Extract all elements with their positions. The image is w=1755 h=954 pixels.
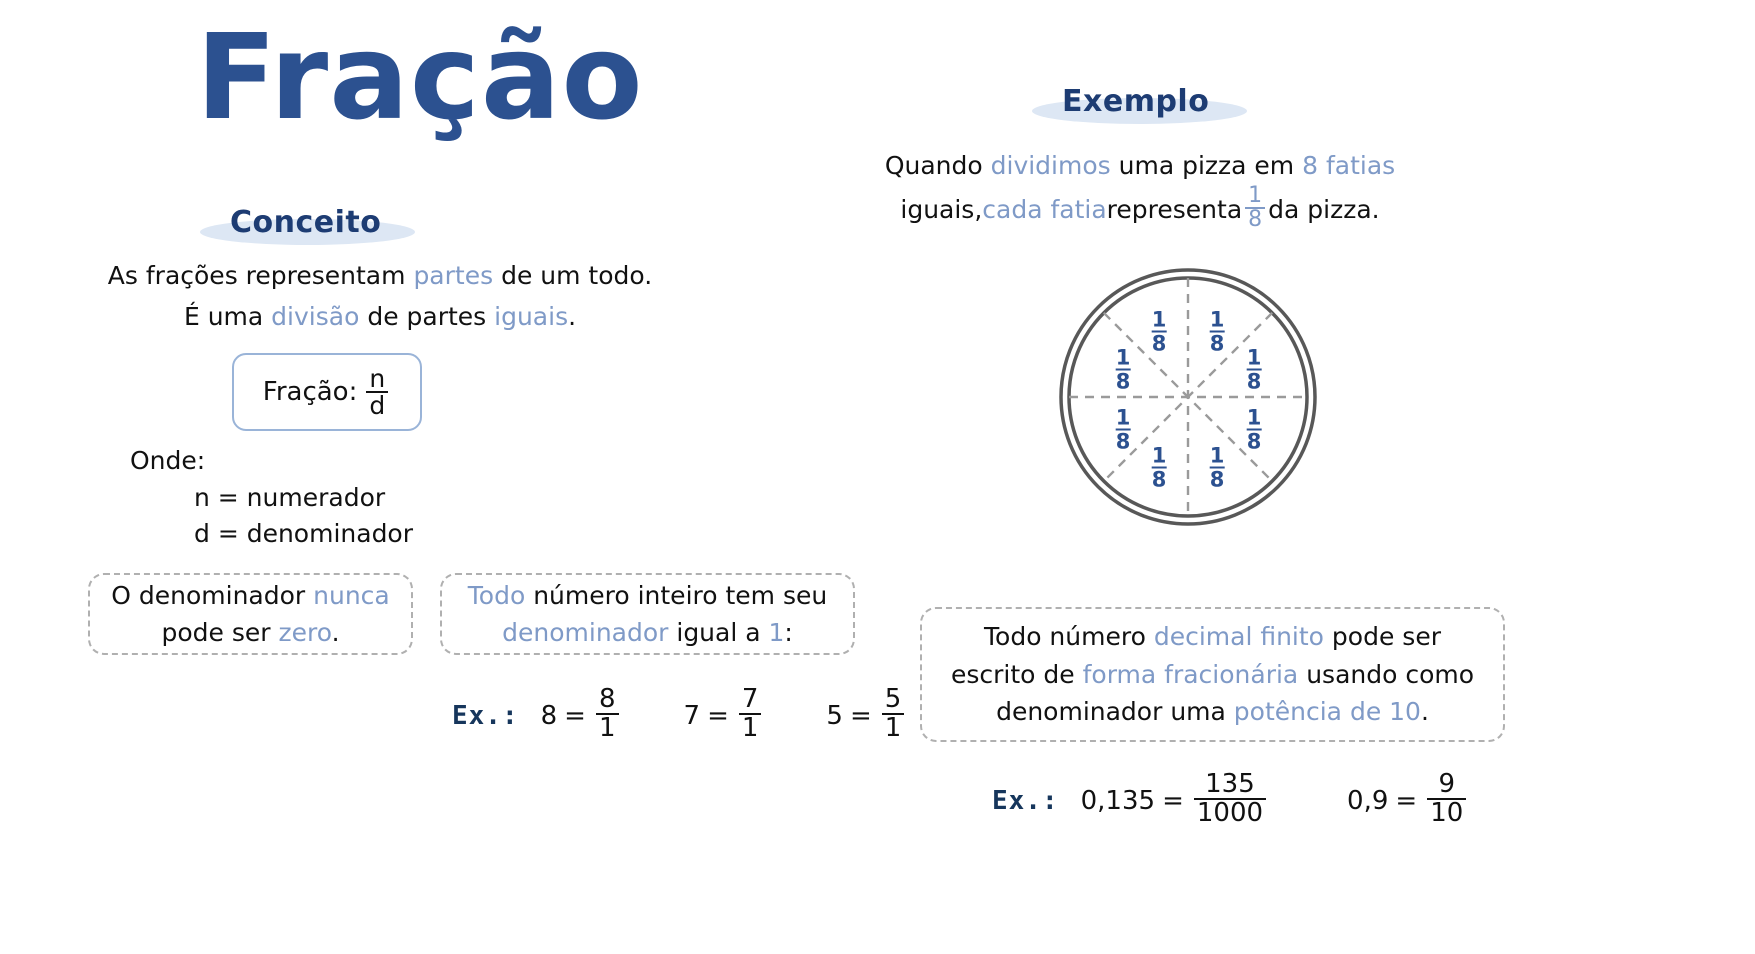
- fracao-formula-label: Fração:: [263, 377, 358, 407]
- example-value: 8: [541, 701, 558, 731]
- pizza-slice-label-8: 1 8: [1210, 446, 1225, 491]
- example-item: 8=81: [541, 688, 622, 743]
- text-run-5: :: [784, 618, 792, 647]
- examples-row-inteiros: Ex.: 8=817=715=51: [452, 688, 907, 743]
- fracao-formula-denominator: d: [366, 391, 388, 419]
- text-run-1: divisão: [271, 302, 359, 331]
- fraction-numerator: 1: [1245, 185, 1265, 207]
- fraction-numerator: 9: [1435, 771, 1458, 798]
- text-run-3: 8 fatias: [1302, 151, 1395, 180]
- text-run-2: pode ser: [161, 618, 278, 647]
- exemplo-line-1: Quando dividimos uma pizza em 8 fatias: [850, 146, 1430, 187]
- section-header-exemplo-label: Exemplo: [1062, 84, 1209, 119]
- onde-item-denominador: d = denominador: [130, 516, 413, 553]
- page-title: Fração: [196, 18, 644, 136]
- example-item: 0,135=1351000: [1081, 773, 1269, 828]
- fraction: 81: [596, 686, 619, 741]
- callout-denominador-zero-text: O denominador nunca pode ser zero.: [104, 577, 397, 652]
- exemplo-paragraph: Quando dividimos uma pizza em 8 fatias i…: [850, 146, 1430, 233]
- fraction: 51: [882, 686, 905, 741]
- fraction-denominator: 8: [1245, 207, 1265, 231]
- callout-numero-inteiro-text: Todo número inteiro tem seu denominador …: [456, 577, 839, 652]
- text-run-0: Quando: [885, 151, 991, 180]
- section-header-conceito: Conceito: [230, 205, 381, 240]
- fraction-numerator: 8: [596, 686, 619, 713]
- text-run-3: forma fracionária: [1083, 660, 1299, 689]
- examples-items-decimais: 0,135=13510000,9=910: [1059, 773, 1470, 828]
- section-header-conceito-label: Conceito: [230, 205, 381, 240]
- fraction-denominator: 1000: [1194, 798, 1266, 827]
- example-equals: =: [707, 701, 729, 731]
- text-run-4: .: [332, 618, 340, 647]
- callout-decimal-finito-text: Todo número decimal finito pode ser escr…: [943, 618, 1483, 731]
- section-header-exemplo: Exemplo: [1062, 84, 1209, 119]
- text-run-3: zero: [278, 618, 331, 647]
- text-run-2: uma pizza em: [1111, 151, 1302, 180]
- text-run-1: cada fatia: [982, 190, 1106, 231]
- text-run-6: .: [1421, 697, 1429, 726]
- example-equals: =: [564, 701, 586, 731]
- example-item: 5=51: [826, 688, 907, 743]
- examples-label-inteiros: Ex.:: [452, 701, 519, 731]
- pizza-slice-label-1: 1 8: [1152, 310, 1167, 355]
- example-equals: =: [1395, 786, 1417, 816]
- text-run-2: de partes: [359, 302, 494, 331]
- fraction-numerator: 7: [739, 686, 762, 713]
- text-run-0: O denominador: [111, 581, 313, 610]
- text-run-2: denominador: [502, 618, 668, 647]
- inline-fraction-one-eighth: 18: [1245, 185, 1265, 232]
- fraction-denominator: 1: [882, 713, 905, 742]
- pizza-slice-label-2: 1 8: [1210, 310, 1225, 355]
- text-run-0: É uma: [184, 302, 271, 331]
- fraction-denominator: 10: [1427, 798, 1466, 827]
- example-value: 5: [826, 701, 843, 731]
- pizza-fraction-diagram: 1 8 1 8 1 8 1 8 1 8 1 8 1 8 1 8: [1058, 255, 1318, 540]
- example-item: 0,9=910: [1347, 773, 1469, 828]
- pizza-slice-label-6: 1 8: [1247, 408, 1262, 453]
- example-equals: =: [1162, 786, 1184, 816]
- pizza-svg: [1058, 255, 1318, 540]
- examples-items-inteiros: 8=817=715=51: [519, 688, 908, 743]
- fraction-denominator: 1: [596, 713, 619, 742]
- text-run-3: igual a: [668, 618, 768, 647]
- text-run-5: potência de 10: [1234, 697, 1421, 726]
- fracao-formula-box: Fração: n d: [232, 353, 422, 431]
- text-run-2: representa: [1107, 190, 1242, 231]
- example-value: 0,9: [1347, 786, 1388, 816]
- text-run-3: iguais: [494, 302, 568, 331]
- fraction-denominator: 1: [739, 713, 762, 742]
- text-run-0: Todo: [468, 581, 525, 610]
- fracao-formula-numerator: n: [366, 366, 388, 392]
- conceito-line-1: As frações representam partes de um todo…: [60, 256, 700, 297]
- text-run-4: 1: [769, 618, 785, 647]
- onde-item-numerador: n = numerador: [130, 480, 413, 517]
- exemplo-line-2: iguais, cada fatia representa 18 da pizz…: [850, 187, 1430, 234]
- text-run-4: .: [568, 302, 576, 331]
- text-run-1: decimal finito: [1154, 622, 1324, 651]
- callout-numero-inteiro: Todo número inteiro tem seu denominador …: [440, 573, 855, 655]
- fraction: 1351000: [1194, 771, 1266, 826]
- pizza-slice-label-5: 1 8: [1116, 408, 1131, 453]
- fraction: 910: [1427, 771, 1466, 826]
- callout-denominador-zero: O denominador nunca pode ser zero.: [88, 573, 413, 655]
- fraction-numerator: 135: [1202, 771, 1258, 798]
- examples-row-decimais: Ex.: 0,135=13510000,9=910: [992, 773, 1469, 828]
- example-value: 0,135: [1081, 786, 1155, 816]
- example-value: 7: [684, 701, 701, 731]
- example-equals: =: [850, 701, 872, 731]
- text-run-2: de um todo.: [493, 261, 652, 290]
- text-run-1: dividimos: [991, 151, 1111, 180]
- text-run-1: nunca: [313, 581, 390, 610]
- onde-label: Onde:: [130, 443, 413, 480]
- fracao-formula-fraction: n d: [366, 366, 388, 419]
- pizza-slice-label-4: 1 8: [1247, 348, 1262, 393]
- text-run-1: partes: [413, 261, 493, 290]
- fraction: 71: [739, 686, 762, 741]
- text-run-1: número inteiro tem seu: [525, 581, 827, 610]
- onde-block: Onde: n = numerador d = denominador: [130, 443, 413, 553]
- pizza-slice-label-3: 1 8: [1116, 348, 1131, 393]
- example-item: 7=71: [684, 688, 765, 743]
- fraction-numerator: 5: [882, 686, 905, 713]
- conceito-line-2: É uma divisão de partes iguais.: [60, 297, 700, 338]
- text-run-0: iguais,: [900, 190, 982, 231]
- examples-label-decimais: Ex.:: [992, 786, 1059, 816]
- text-run-0: As frações representam: [108, 261, 414, 290]
- text-run-0: da pizza.: [1268, 190, 1379, 231]
- text-run-0: Todo número: [984, 622, 1154, 651]
- pizza-slice-label-7: 1 8: [1152, 446, 1167, 491]
- conceito-paragraph: As frações representam partes de um todo…: [60, 256, 700, 337]
- callout-decimal-finito: Todo número decimal finito pode ser escr…: [920, 607, 1505, 742]
